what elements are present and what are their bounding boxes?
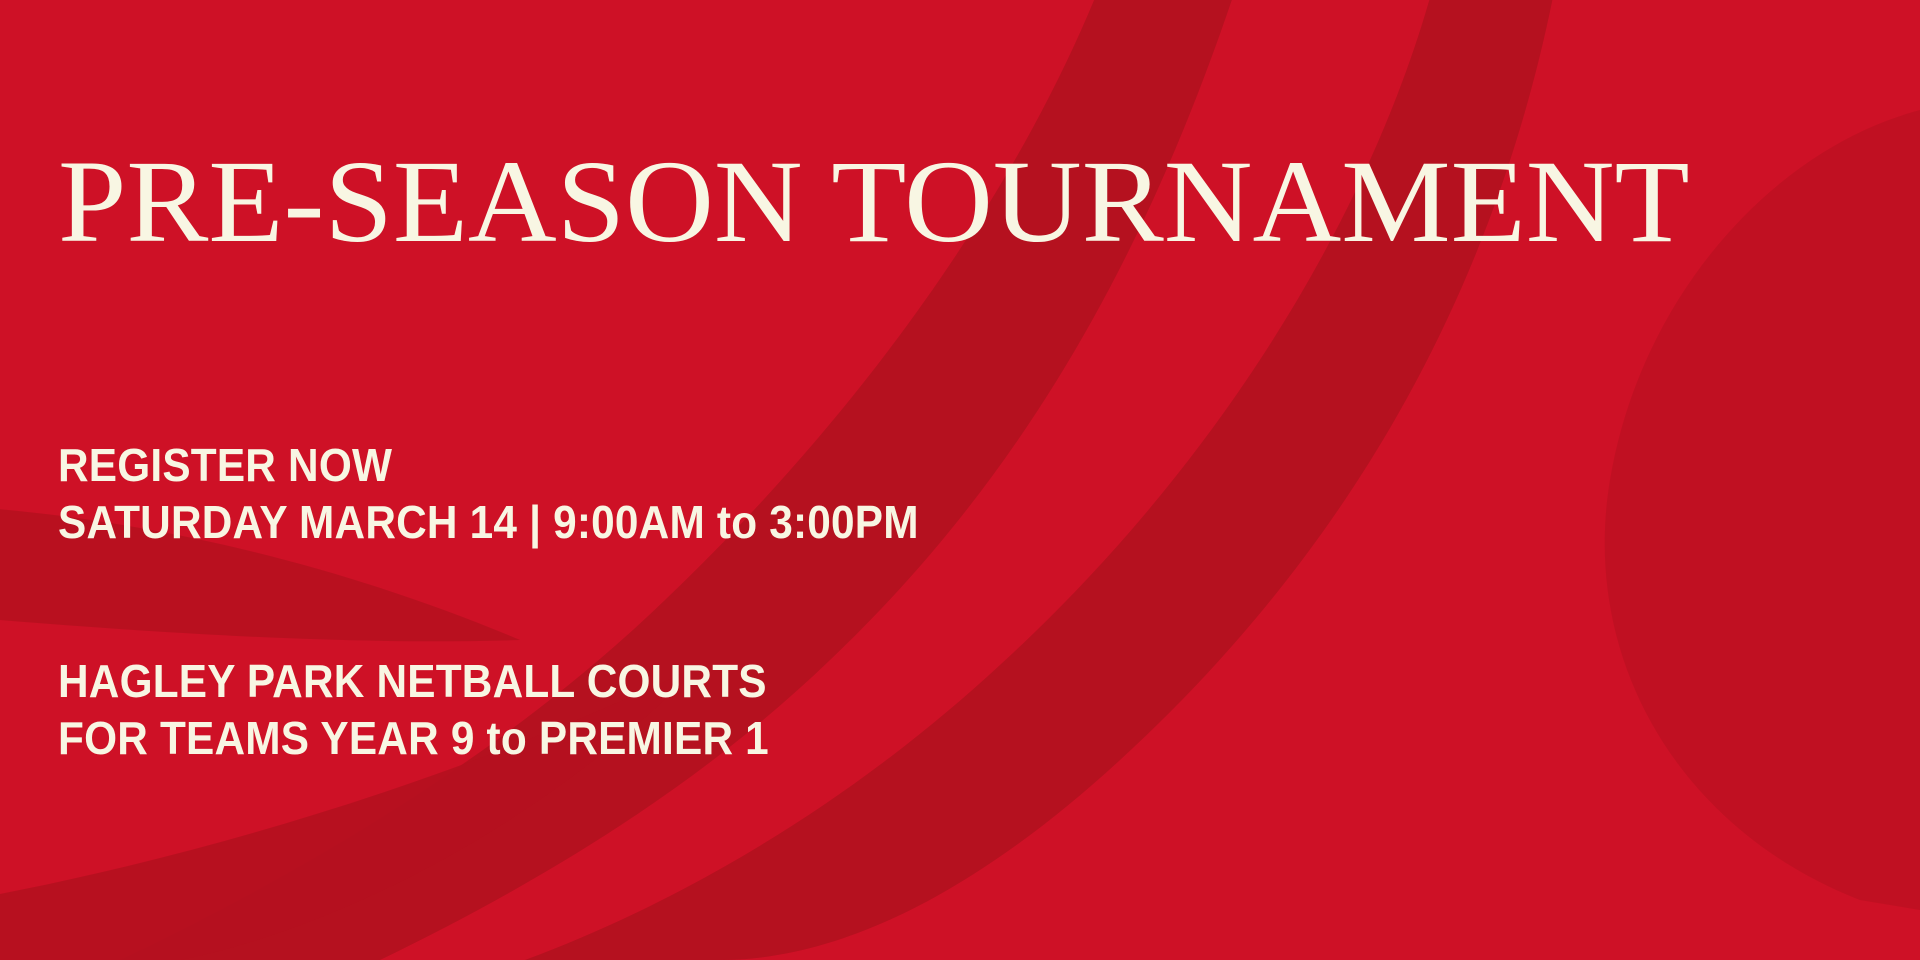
schedule-block: REGISTER NOW SATURDAY MARCH 14 | 9:00AM … (58, 438, 932, 552)
date-time-label: SATURDAY MARCH 14 | 9:00AM to 3:00PM (58, 493, 919, 554)
promo-banner: PRE-SEASON TOURNAMENT REGISTER NOW SATUR… (0, 0, 1920, 960)
register-now-label: REGISTER NOW (58, 436, 919, 497)
team-eligibility-label: FOR TEAMS YEAR 9 to PREMIER 1 (58, 709, 769, 770)
page-title: PRE-SEASON TOURNAMENT (58, 143, 1920, 263)
banner-content: PRE-SEASON TOURNAMENT REGISTER NOW SATUR… (0, 0, 1920, 960)
venue-block: HAGLEY PARK NETBALL COURTS FOR TEAMS YEA… (58, 654, 780, 768)
venue-location-label: HAGLEY PARK NETBALL COURTS (58, 652, 769, 713)
